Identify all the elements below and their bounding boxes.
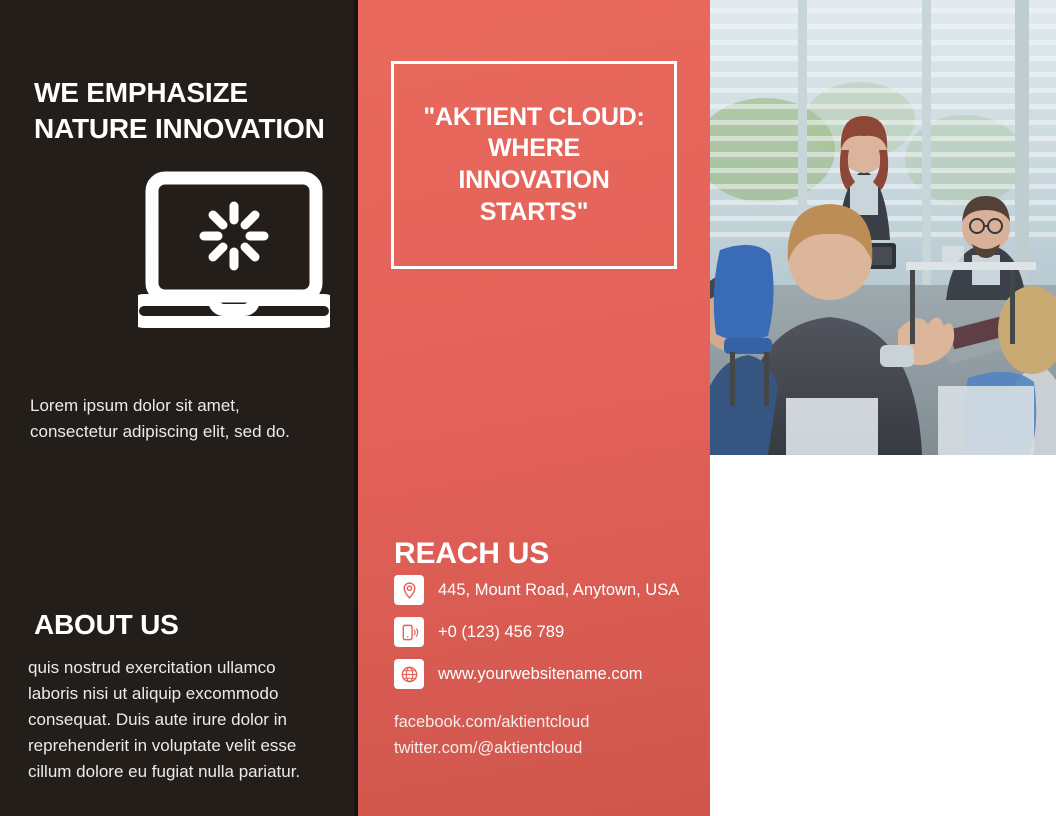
- left-dark-panel: WE EMPHASIZE NATURE INNOVATION: [0, 0, 358, 816]
- social-link-twitter[interactable]: twitter.com/@aktientcloud: [394, 736, 704, 762]
- contact-phone-text: +0 (123) 456 789: [438, 624, 564, 641]
- about-line-2: laboris nisi ut aliquip excommodo: [28, 684, 278, 703]
- about-line-1: quis nostrud exercitation ullamco: [28, 658, 276, 677]
- about-us-paragraph: quis nostrud exercitation ullamco labori…: [28, 655, 352, 785]
- contact-website-text: www.yourwebsitename.com: [438, 666, 643, 683]
- contact-list: 445, Mount Road, Anytown, USA +0 (123) 4…: [394, 575, 704, 701]
- quote-box: "AKTIENT CLOUD: WHERE INNOVATION STARTS": [391, 61, 677, 269]
- reach-us-title: REACH US: [394, 537, 549, 571]
- emphasize-heading-line2: NATURE INNOVATION: [34, 113, 325, 144]
- about-line-5: cillum dolore eu fugiat nulla pariatur.: [28, 762, 300, 781]
- quote-line-3: INNOVATION: [458, 166, 609, 194]
- quote-text: "AKTIENT CLOUD: WHERE INNOVATION STARTS": [413, 102, 654, 229]
- lorem-line-1: Lorem ipsum dolor sit amet,: [30, 396, 240, 415]
- contact-row-phone[interactable]: +0 (123) 456 789: [394, 617, 704, 647]
- contact-address-text: 445, Mount Road, Anytown, USA: [438, 582, 679, 599]
- social-links: facebook.com/aktientcloud twitter.com/@a…: [394, 710, 704, 761]
- social-link-facebook[interactable]: facebook.com/aktientcloud: [394, 710, 704, 736]
- quote-line-2: WHERE: [488, 134, 580, 162]
- right-panel: AKTIENT CLOUD EXPERIENCE WORLD-CLASS IT …: [710, 0, 1056, 816]
- middle-red-panel: "AKTIENT CLOUD: WHERE INNOVATION STARTS"…: [358, 0, 710, 816]
- quote-line-1: "AKTIENT CLOUD:: [423, 103, 644, 131]
- about-line-4: reprehenderit in voluptate velit esse: [28, 736, 296, 755]
- brochure: WE EMPHASIZE NATURE INNOVATION: [0, 0, 1056, 816]
- map-pin-icon: [394, 575, 424, 605]
- contact-row-website[interactable]: www.yourwebsitename.com: [394, 659, 704, 689]
- lorem-paragraph: Lorem ipsum dolor sit amet, consectetur …: [30, 393, 350, 444]
- emphasize-heading-line1: WE EMPHASIZE: [34, 77, 248, 108]
- about-line-3: consequat. Duis aute irure dolor in: [28, 710, 287, 729]
- globe-icon: [394, 659, 424, 689]
- quote-line-4: STARTS": [480, 198, 589, 226]
- about-us-title: ABOUT US: [34, 609, 179, 641]
- emphasize-heading: WE EMPHASIZE NATURE INNOVATION: [34, 75, 344, 148]
- laptop-loading-icon: [138, 168, 330, 338]
- mobile-phone-icon: [394, 617, 424, 647]
- contact-row-address[interactable]: 445, Mount Road, Anytown, USA: [394, 575, 704, 605]
- lorem-line-2: consectetur adipiscing elit, sed do.: [30, 422, 290, 441]
- office-meeting-photo: [710, 0, 1056, 455]
